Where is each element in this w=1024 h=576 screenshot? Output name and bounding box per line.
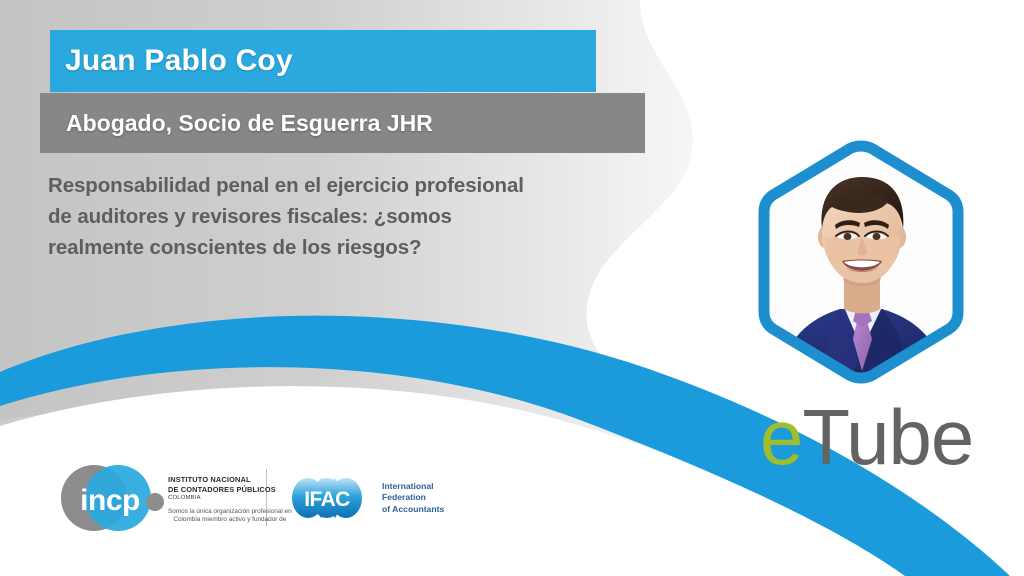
speaker-portrait-hexagon bbox=[736, 133, 986, 391]
presentation-slide: Juan Pablo Coy Abogado, Socio de Esguerr… bbox=[0, 0, 1024, 576]
talk-title-line-1: Responsabilidad penal en el ejercicio pr… bbox=[48, 170, 673, 201]
incp-tagline-line-1: Somos la única organización profesional … bbox=[168, 508, 292, 516]
ifac-line-1: International bbox=[382, 481, 444, 492]
sponsor-logo-strip: incp INSTITUTO NACIONAL DE CONTADORES PÚ… bbox=[58, 448, 518, 548]
incp-mark-icon: incp bbox=[58, 450, 166, 546]
etube-logo-e: e bbox=[760, 393, 802, 481]
speaker-name: Juan Pablo Coy bbox=[50, 44, 293, 78]
incp-logo: incp INSTITUTO NACIONAL DE CONTADORES PÚ… bbox=[58, 448, 258, 548]
etube-logo-tube: Tube bbox=[802, 393, 973, 481]
talk-title-line-3: realmente conscientes de los riesgos? bbox=[48, 232, 673, 263]
incp-tagline: Somos la única organización profesional … bbox=[168, 508, 292, 525]
ifac-logo: IFAC International Federation of Account… bbox=[281, 470, 444, 526]
ifac-wordmark-text: International Federation of Accountants bbox=[382, 481, 444, 515]
talk-title: Responsabilidad penal en el ejercicio pr… bbox=[48, 170, 673, 263]
portrait-photo bbox=[736, 133, 986, 391]
incp-tagline-line-2: Colombia miembro activo y fundador de bbox=[168, 516, 292, 524]
svg-text:IFAC: IFAC bbox=[304, 488, 350, 511]
incp-line-1: INSTITUTO NACIONAL bbox=[168, 475, 292, 484]
ifac-line-2: Federation bbox=[382, 492, 444, 503]
incp-line-3: COLOMBIA bbox=[168, 494, 292, 503]
speaker-name-banner: Juan Pablo Coy bbox=[50, 30, 596, 92]
incp-wordmark-text: INSTITUTO NACIONAL DE CONTADORES PÚBLICO… bbox=[168, 471, 292, 524]
ifac-line-3: of Accountants bbox=[382, 504, 444, 515]
ifac-mark-icon: IFAC bbox=[281, 470, 373, 526]
incp-line-2: DE CONTADORES PÚBLICOS bbox=[168, 485, 292, 494]
speaker-role: Abogado, Socio de Esguerra JHR bbox=[40, 110, 433, 137]
svg-text:incp: incp bbox=[80, 484, 140, 517]
etube-logo: eTube bbox=[760, 398, 973, 476]
speaker-role-banner: Abogado, Socio de Esguerra JHR bbox=[40, 93, 645, 153]
talk-title-line-2: de auditores y revisores fiscales: ¿somo… bbox=[48, 201, 673, 232]
